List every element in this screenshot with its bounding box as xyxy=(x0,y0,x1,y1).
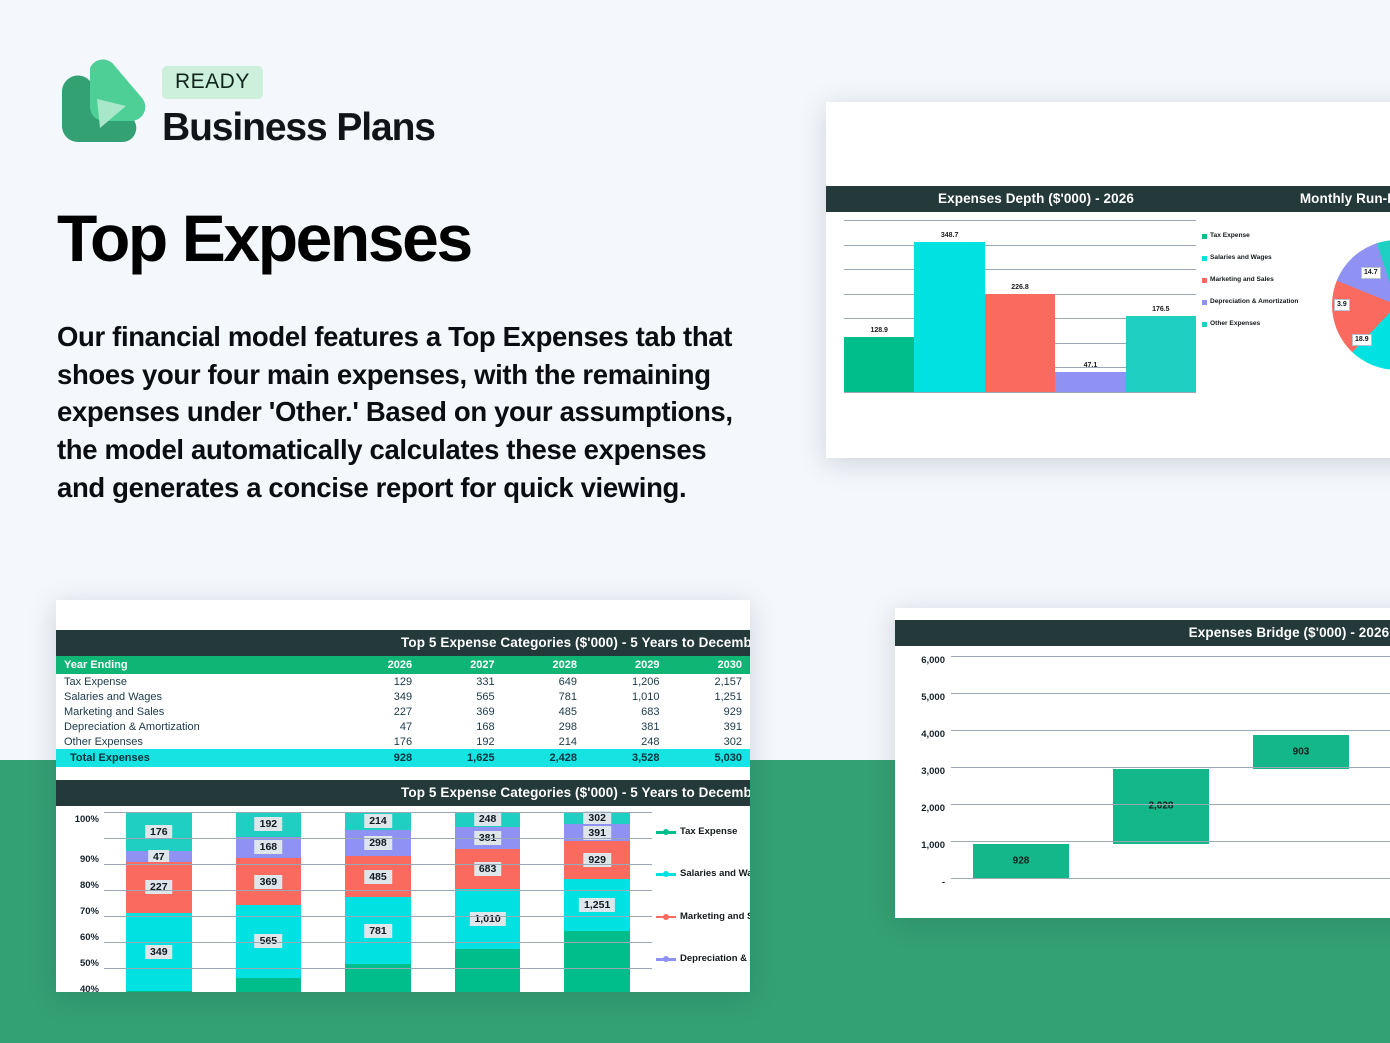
bar-4 xyxy=(1126,316,1196,392)
table-row-label: Salaries and Wages xyxy=(56,689,343,704)
legend-item: Marketing and Sales xyxy=(1202,276,1314,285)
table-row: Salaries and Wages3495657811,0101,251 xyxy=(56,689,750,704)
y-tick-label: 100% xyxy=(56,814,104,840)
y-tick-label: 50% xyxy=(56,944,104,970)
table-total-cell: 1,625 xyxy=(420,749,502,767)
segment-value-label: 227 xyxy=(145,880,173,894)
brand-name: Business Plans xyxy=(162,106,435,150)
segment-value-label: 168 xyxy=(255,840,283,854)
segment-value-label: 1,251 xyxy=(579,898,615,912)
legend-label: Depreciation & Amortization xyxy=(1210,298,1298,307)
play-triangle-logo-icon xyxy=(56,56,148,156)
stack-segment: 298 xyxy=(345,830,411,856)
expenses-depth-title: Expenses Depth ($'000) - 2026 xyxy=(826,186,1246,212)
bar-1 xyxy=(914,242,984,392)
segment-value-label: 302 xyxy=(583,811,611,825)
y-tick-label: 40% xyxy=(56,970,104,992)
legend-label: Marketing and Sales xyxy=(1210,276,1274,285)
legend-marker xyxy=(656,869,676,879)
stack-segment: 349 xyxy=(126,913,192,991)
waterfall-bar-0: 928 xyxy=(973,844,1068,878)
table-cell: 349 xyxy=(343,689,420,704)
table-cell: 2,157 xyxy=(667,674,750,689)
table-header-cell: 2030 xyxy=(667,656,750,674)
pie-value-label: 14.7 xyxy=(1361,267,1381,279)
table-row: Other Expenses176192214248302 xyxy=(56,734,750,749)
legend-marker xyxy=(656,954,676,964)
expenses-depth-card: Expenses Depth ($'000) - 2026 Monthly Ru… xyxy=(826,102,1390,458)
grid-line xyxy=(844,392,1196,393)
grid-line xyxy=(951,878,1390,879)
top5-expense-categories-card: Top 5 Expense Categories ($'000) - 5 Yea… xyxy=(56,600,750,992)
legend-swatch xyxy=(1202,256,1207,261)
waterfall-value-label: 928 xyxy=(973,855,1068,866)
y-tick-label: 4,000 xyxy=(895,730,951,767)
stacked-chart-legend: Tax ExpenseSalaries and WagesMarketing a… xyxy=(652,812,748,992)
table-total-cell: 5,030 xyxy=(667,749,750,767)
segment-value-label: 781 xyxy=(364,924,392,938)
top5-table-title: Top 5 Expense Categories ($'000) - 5 Yea… xyxy=(56,630,750,656)
expenses-bridge-title: Expenses Bridge ($'000) - 2026 Total Exp… xyxy=(895,620,1390,646)
segment-value-label: 248 xyxy=(474,812,502,826)
brand-lockup: READY Business Plans xyxy=(56,56,435,156)
legend-swatch xyxy=(1202,300,1207,305)
table-cell: 781 xyxy=(503,689,585,704)
stacked-column: 3023919291,251 xyxy=(542,812,652,992)
table-row-label: Depreciation & Amortization xyxy=(56,719,343,734)
table-cell: 1,206 xyxy=(585,674,667,689)
bar-3 xyxy=(1055,372,1125,392)
legend-label: Salaries and Wages xyxy=(680,868,750,880)
table-cell: 227 xyxy=(343,704,420,719)
table-cell: 129 xyxy=(343,674,420,689)
segment-value-label: 485 xyxy=(364,870,392,884)
waterfall-value-label: 2,028 xyxy=(1113,801,1208,812)
y-tick-label: 80% xyxy=(56,866,104,892)
expenses-depth-legend: Tax ExpenseSalaries and WagesMarketing a… xyxy=(1196,220,1314,392)
stacked-bar: 2483816831,010 xyxy=(455,812,521,992)
table-cell: 565 xyxy=(420,689,502,704)
table-body: Tax Expense1293316491,2062,157Salaries a… xyxy=(56,674,750,767)
legend-marker xyxy=(656,912,676,922)
stacked-bar: 192168369565 xyxy=(236,812,302,992)
stacked-chart-y-axis: 100%90%80%70%60%50%40%30% xyxy=(56,812,104,992)
monthly-run-rate-pie-chart: 10.714.73.918.9 xyxy=(1314,220,1390,392)
table-cell: 683 xyxy=(585,704,667,719)
table-row: Marketing and Sales227369485683929 xyxy=(56,704,750,719)
grid-line xyxy=(951,767,1390,768)
stacked-column: 214298485781 xyxy=(323,812,433,992)
legend-label: Marketing and Sales xyxy=(680,911,750,923)
table-row-label: Tax Expense xyxy=(56,674,343,689)
grid-line xyxy=(104,968,652,969)
x-axis-category: Salaries and Wages xyxy=(1233,915,1374,918)
stack-segment: 47 xyxy=(126,851,192,862)
stacked-bar: 17647227349 xyxy=(126,812,192,992)
bar-column: 226.8 xyxy=(985,220,1055,392)
stack-segment: 192 xyxy=(236,812,302,837)
top5-expense-table: Year Ending20262027202820292030 Tax Expe… xyxy=(56,656,750,767)
table-cell: 168 xyxy=(420,719,502,734)
bar-column: 47.1 xyxy=(1055,220,1125,392)
stack-segment: 369 xyxy=(236,858,302,905)
expenses-bridge-waterfall-chart: 9282,028903702 xyxy=(951,656,1390,878)
bar-value-label: 348.7 xyxy=(914,232,984,239)
legend-item: Salaries and Wages xyxy=(1202,254,1314,263)
pie-value-label: 18.9 xyxy=(1352,334,1372,346)
legend-item: Depreciation & Amortization xyxy=(1202,298,1314,307)
bar-0 xyxy=(844,337,914,392)
stack-segment: 929 xyxy=(564,841,630,879)
stack-segment xyxy=(126,991,192,992)
legend-label: Salaries and Wages xyxy=(1210,254,1272,263)
stack-segment: 1,010 xyxy=(455,889,521,949)
y-tick-label: - xyxy=(895,878,951,915)
grid-line xyxy=(104,812,652,813)
waterfall-bar-2: 903 xyxy=(1253,735,1348,768)
bar-value-label: 47.1 xyxy=(1055,362,1125,369)
bridge-chart-x-axis: 2026 Total ExpensesTax ExpenseSalaries a… xyxy=(895,915,1390,918)
bar-value-label: 176.5 xyxy=(1126,306,1196,313)
table-total-cell: 3,528 xyxy=(585,749,667,767)
table-cell: 1,010 xyxy=(585,689,667,704)
table-row: Tax Expense1293316491,2062,157 xyxy=(56,674,750,689)
segment-value-label: 1,010 xyxy=(469,912,505,926)
y-tick-label: 5,000 xyxy=(895,693,951,730)
grid-line xyxy=(951,841,1390,842)
page-description: Our financial model features a Top Expen… xyxy=(57,318,752,506)
stack-segment: 485 xyxy=(345,856,411,898)
y-tick-label: 6,000 xyxy=(895,656,951,693)
legend-swatch xyxy=(1202,278,1207,283)
legend-item: Other Expenses xyxy=(1202,320,1314,329)
table-cell: 214 xyxy=(503,734,585,749)
table-cell: 929 xyxy=(667,704,750,719)
segment-value-label: 369 xyxy=(255,875,283,889)
bar-value-label: 128.9 xyxy=(844,327,914,334)
table-cell: 331 xyxy=(420,674,502,689)
segment-value-label: 176 xyxy=(145,825,173,839)
legend-swatch xyxy=(1202,322,1207,327)
y-tick-label: 60% xyxy=(56,918,104,944)
stack-segment: 176 xyxy=(126,812,192,851)
expenses-depth-bar-chart: 128.9348.7226.847.1176.5 xyxy=(844,220,1196,392)
legend-item: Tax Expense xyxy=(1202,232,1314,241)
bar-group: 128.9348.7226.847.1176.5 xyxy=(844,220,1196,392)
x-axis-category: Tax Expense xyxy=(1092,915,1233,918)
table-cell: 302 xyxy=(667,734,750,749)
grid-line xyxy=(104,916,652,917)
table-cell: 381 xyxy=(585,719,667,734)
segment-value-label: 349 xyxy=(145,945,173,959)
table-cell: 369 xyxy=(420,704,502,719)
stacked-bar-chart: 1764722734919216836956521429848578124838… xyxy=(104,812,652,992)
legend-marker xyxy=(656,827,676,837)
bar-column: 348.7 xyxy=(914,220,984,392)
bar-column: 128.9 xyxy=(844,220,914,392)
stack-segment: 781 xyxy=(345,897,411,964)
stacked-column: 17647227349 xyxy=(104,812,214,992)
bridge-chart-y-axis: 6,0005,0004,0003,0002,0001,000- xyxy=(895,656,951,915)
table-cell: 485 xyxy=(503,704,585,719)
table-cell: 192 xyxy=(420,734,502,749)
bar-column: 176.5 xyxy=(1126,220,1196,392)
table-total-cell: 2,428 xyxy=(503,749,585,767)
table-header-cell: 2029 xyxy=(585,656,667,674)
legend-item: Depreciation & Amortization xyxy=(656,953,748,965)
table-cell: 176 xyxy=(343,734,420,749)
slide-canvas: READY Business Plans Top Expenses Our fi… xyxy=(0,0,1390,1043)
table-total-cell: 928 xyxy=(343,749,420,767)
grid-line xyxy=(104,838,652,839)
table-header-row: Year Ending20262027202820292030 xyxy=(56,656,750,674)
stacked-column: 192168369565 xyxy=(214,812,324,992)
table-header-cell: 2026 xyxy=(343,656,420,674)
waterfall-value-label: 903 xyxy=(1253,746,1348,757)
ready-badge: READY xyxy=(162,66,263,99)
bar-value-label: 226.8 xyxy=(985,284,1055,291)
table-row-label: Marketing and Sales xyxy=(56,704,343,719)
stack-segment: 248 xyxy=(455,812,521,827)
table-total-label: Total Expenses xyxy=(56,749,343,767)
y-tick-label: 90% xyxy=(56,840,104,866)
grid-line xyxy=(104,942,652,943)
legend-label: Other Expenses xyxy=(1210,320,1260,329)
table-cell: 298 xyxy=(503,719,585,734)
pie-value-label: 3.9 xyxy=(1334,299,1350,311)
table-header-cell: Year Ending xyxy=(56,656,343,674)
x-axis-category: Marketing and S xyxy=(1374,915,1390,918)
table-cell: 649 xyxy=(503,674,585,689)
expenses-depth-title-bar: Expenses Depth ($'000) - 2026 Monthly Ru… xyxy=(826,186,1390,212)
grid-line xyxy=(104,890,652,891)
legend-label: Depreciation & Amortization xyxy=(680,953,750,965)
grid-line xyxy=(104,864,652,865)
table-cell: 248 xyxy=(585,734,667,749)
y-tick-label: 3,000 xyxy=(895,767,951,804)
legend-item: Marketing and Sales xyxy=(656,911,748,923)
table-cell: 47 xyxy=(343,719,420,734)
legend-item: Salaries and Wages xyxy=(656,868,748,880)
segment-value-label: 214 xyxy=(364,814,392,828)
stack-segment xyxy=(564,931,630,992)
grid-line xyxy=(951,730,1390,731)
legend-label: Tax Expense xyxy=(1210,232,1250,241)
table-header-cell: 2028 xyxy=(503,656,585,674)
stack-segment xyxy=(455,949,521,992)
grid-line xyxy=(951,656,1390,657)
legend-swatch xyxy=(1202,234,1207,239)
stack-segment: 302 xyxy=(564,812,630,824)
waterfall-bar-1: 2,028 xyxy=(1113,769,1208,844)
legend-label: Tax Expense xyxy=(680,826,737,838)
y-tick-label: 70% xyxy=(56,892,104,918)
segment-value-label: 192 xyxy=(255,817,283,831)
stack-segment: 227 xyxy=(126,862,192,913)
stack-segment: 683 xyxy=(455,849,521,889)
grid-line xyxy=(951,693,1390,694)
top5-stacked-title: Top 5 Expense Categories ($'000) - 5 Yea… xyxy=(56,780,750,806)
monthly-run-rate-title: Monthly Run-Rate ($'000) - xyxy=(1246,186,1390,212)
y-tick-label: 2,000 xyxy=(895,804,951,841)
table-header-cell: 2027 xyxy=(420,656,502,674)
expenses-bridge-card: Expenses Bridge ($'000) - 2026 Total Exp… xyxy=(895,608,1390,918)
table-row: Depreciation & Amortization4716829838139… xyxy=(56,719,750,734)
x-axis-category: 2026 Total Expenses xyxy=(951,915,1092,918)
table-cell: 1,251 xyxy=(667,689,750,704)
table-total-row: Total Expenses9281,6252,4283,5285,030 xyxy=(56,749,750,767)
table-row-label: Other Expenses xyxy=(56,734,343,749)
table-cell: 391 xyxy=(667,719,750,734)
stacked-bar: 3023919291,251 xyxy=(564,812,630,992)
stacked-column: 2483816831,010 xyxy=(433,812,543,992)
brand-text: READY Business Plans xyxy=(162,56,435,150)
stack-segment: 1,251 xyxy=(564,879,630,931)
stack-segment: 214 xyxy=(345,812,411,830)
stacked-bar: 214298485781 xyxy=(345,812,411,992)
grid-line xyxy=(951,804,1390,805)
stack-segment xyxy=(236,978,302,992)
bar-2 xyxy=(985,294,1055,392)
y-tick-label: 1,000 xyxy=(895,841,951,878)
legend-item: Tax Expense xyxy=(656,826,748,838)
page-title: Top Expenses xyxy=(57,200,471,276)
stack-segment: 168 xyxy=(236,837,302,859)
